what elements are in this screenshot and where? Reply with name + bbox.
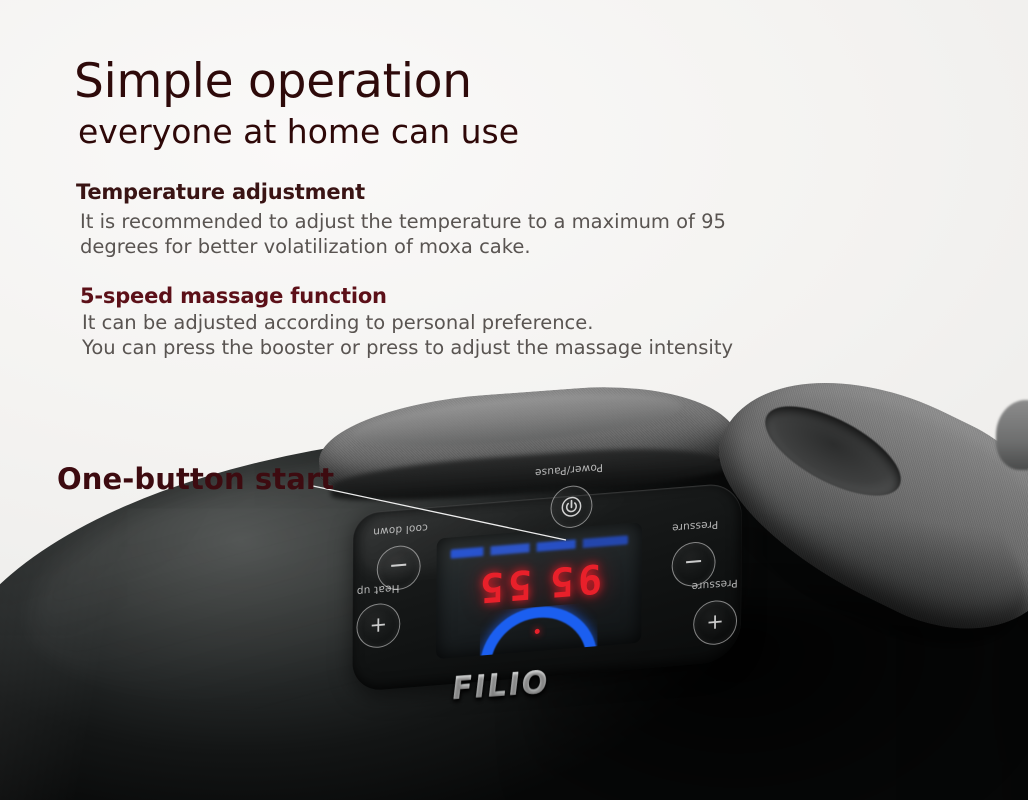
heat-up-label: Heat up [357,582,400,597]
section-body-temperature-line1: It is recommended to adjust the temperat… [80,209,726,234]
section-body-temperature-line2: degrees for better volatilization of mox… [80,234,726,259]
page-subtitle: everyone at home can use [78,115,519,148]
fabric-cuff-far [996,400,1028,470]
page-title: Simple operation [74,58,472,105]
section-title-temperature: Temperature adjustment [76,180,365,204]
section-body-temperature: It is recommended to adjust the temperat… [80,209,726,259]
heat-up-button[interactable]: + [356,602,400,650]
pressure-up-label: Pressure [691,577,737,593]
lcd-display: 9555 [436,522,642,659]
lcd-value-left: 55 [476,560,532,611]
lcd-value-right: 95 [546,554,602,605]
plus-icon: + [706,610,724,632]
section-body-massage-line1: It can be adjusted according to personal… [82,310,733,335]
brand-logo: FILIO [451,665,551,707]
minus-icon: − [684,548,704,574]
power-icon [560,495,582,519]
pressure-up-button[interactable]: + [693,599,737,647]
control-panel: 9555 cool down − Heat up + Power/Pause [352,482,742,692]
callout-one-button-start: One-button start [57,462,334,496]
section-title-massage: 5-speed massage function [80,284,387,308]
lcd-gauge [480,602,598,659]
pressure-down-label: Pressure [672,518,718,534]
lcd-digits: 9555 [436,554,642,611]
minus-icon: − [389,552,409,578]
plus-icon: + [370,613,388,635]
cool-down-label: cool down [373,521,428,537]
product-feature-banner: 9555 cool down − Heat up + Power/Pause [0,0,1028,800]
section-body-massage-line2: You can press the booster or press to ad… [82,335,733,360]
section-body-massage: It can be adjusted according to personal… [82,310,733,360]
